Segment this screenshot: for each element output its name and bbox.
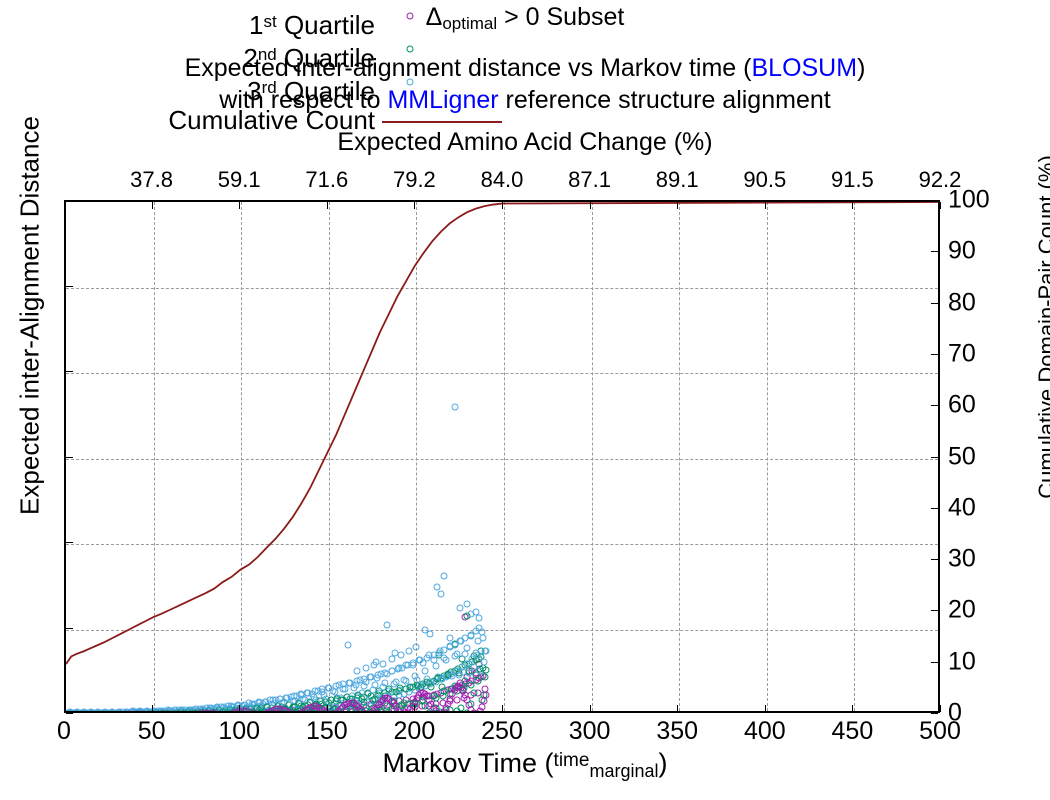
y-right-tick-label: 0 <box>948 699 962 728</box>
tick-x-top <box>414 202 415 209</box>
top-tick-label: 59.1 <box>218 167 261 193</box>
scatter-point-q1 <box>229 711 236 713</box>
scatter-point-q1 <box>96 711 103 713</box>
top-tick-label: 71.6 <box>305 167 348 193</box>
scatter-point-q1 <box>85 711 92 713</box>
scatter-point-q1 <box>186 711 193 713</box>
scatter-point-q1 <box>127 711 134 713</box>
scatter-point-q1 <box>157 711 164 713</box>
scatter-point-q3 <box>373 658 380 665</box>
scatter-point-q2 <box>470 689 477 696</box>
scatter-point-q3 <box>478 628 485 635</box>
title-l2-b: reference structure alignment <box>499 86 831 114</box>
top-tick-label: 90.5 <box>743 167 786 193</box>
y-right-tick-label: 30 <box>948 545 976 574</box>
x-tick-label: 50 <box>138 717 166 746</box>
scatter-point-q1 <box>77 711 84 713</box>
legend: 1st Quartile2nd Quartile3rd QuartileCumu… <box>120 5 480 137</box>
y-right-tick-label: 40 <box>948 493 976 522</box>
scatter-point-q1 <box>119 711 126 713</box>
x-tick-label: 0 <box>57 717 71 746</box>
scatter-point-q1 <box>365 711 372 713</box>
scatter-point-q3 <box>406 647 413 654</box>
scatter-point-q1 <box>180 711 187 713</box>
x-tick-label: 200 <box>394 717 436 746</box>
scatter-point-q1 <box>113 711 120 713</box>
tick-y-left <box>66 542 73 543</box>
scatter-point-q3 <box>380 660 387 667</box>
scatter-point-q1 <box>108 711 115 713</box>
scatter-point-q1 <box>222 711 229 713</box>
top-tick-label: 79.2 <box>393 167 436 193</box>
scatter-point-q1 <box>222 711 229 713</box>
tick-x-top <box>852 202 853 209</box>
scatter-point-q1 <box>291 711 298 713</box>
scatter-point-q3 <box>474 638 481 645</box>
scatter-point-q1 <box>401 711 408 713</box>
scatter-point-q2 <box>481 673 488 680</box>
scatter-point-q1 <box>100 711 107 713</box>
x-tick-label: 350 <box>656 717 698 746</box>
tick-x-top <box>677 202 678 209</box>
tick-x-top <box>765 202 766 209</box>
scatter-point-q3 <box>432 662 439 669</box>
scatter-point-q1 <box>363 711 370 713</box>
tick-x-bottom <box>677 705 678 712</box>
tick-x-top <box>239 202 240 209</box>
scatter-point-q1 <box>125 711 132 713</box>
scatter-point-q1 <box>102 711 109 713</box>
tick-y-left <box>66 371 73 372</box>
tick-x-top <box>502 202 503 209</box>
scatter-point-q1 <box>144 711 151 713</box>
scatter-point-q2 <box>428 683 435 690</box>
top-tick-label: 87.1 <box>568 167 611 193</box>
scatter-point-q1 <box>136 711 143 713</box>
tick-y-right <box>931 200 938 201</box>
legend-label-ordinal-suffix: st <box>264 12 277 31</box>
scatter-point-q1 <box>83 711 90 713</box>
scatter-point-q3 <box>353 667 360 674</box>
scatter-point-q3 <box>472 609 479 616</box>
scatter-point-q1 <box>483 692 490 699</box>
tick-y-right <box>931 559 938 560</box>
scatter-point-q1 <box>215 711 222 713</box>
y-right-tick-label: 60 <box>948 391 976 420</box>
scatter-point-q1 <box>142 711 149 713</box>
scatter-point-q3 <box>451 404 458 411</box>
tick-x-top <box>940 202 941 209</box>
y-right-title-line1: Cumulative Domain-Pair Count (%) <box>1033 67 1050 587</box>
scatter-point-q1 <box>98 711 105 713</box>
title-l1-b: ) <box>857 54 865 82</box>
scatter-point-q1 <box>260 711 267 713</box>
scatter-point-q1 <box>77 711 84 713</box>
scatter-point-q2 <box>462 677 469 684</box>
scatter-point-q1 <box>140 711 147 713</box>
legend-label: 2nd Quartile <box>243 38 375 75</box>
title-blosum-link: BLOSUM <box>751 54 857 82</box>
scatter-point-q1 <box>104 711 111 713</box>
legend-line-cumulative <box>382 121 502 123</box>
scatter-point-q1 <box>258 711 265 713</box>
scatter-point-q3 <box>345 641 352 648</box>
scatter-point-q1 <box>73 711 80 713</box>
scatter-point-q1 <box>153 711 160 713</box>
scatter-point-q1 <box>123 711 130 713</box>
scatter-point-q3 <box>443 657 450 664</box>
scatter-point-q1 <box>453 696 460 703</box>
scatter-point-q3 <box>464 645 471 652</box>
scatter-point-q1 <box>190 711 197 713</box>
tick-x-bottom <box>852 705 853 712</box>
tick-y-right <box>931 251 938 252</box>
scatter-point-q2 <box>467 682 474 689</box>
scatter-point-q1 <box>129 711 136 713</box>
tick-y-right <box>931 610 938 611</box>
scatter-point-q1 <box>472 711 479 713</box>
legend-marker-q2 <box>407 46 414 53</box>
scatter-point-q3 <box>427 630 434 637</box>
scatter-point-q1 <box>87 711 94 713</box>
tick-x-top <box>64 202 65 209</box>
scatter-point-q1 <box>184 711 191 713</box>
legend-marker-q3 <box>407 79 414 86</box>
x-tick-label: 100 <box>218 717 260 746</box>
tick-x-bottom <box>64 705 65 712</box>
tick-x-bottom <box>327 705 328 712</box>
scatter-point-q3 <box>409 662 416 669</box>
scatter-point-q1 <box>253 711 260 713</box>
scatter-point-q2 <box>483 666 490 673</box>
scatter-point-q1 <box>155 711 162 713</box>
tick-x-top <box>152 202 153 209</box>
scatter-point-q3 <box>362 664 369 671</box>
legend-label: 1st Quartile <box>249 5 375 42</box>
y-right-tick-label: 10 <box>948 647 976 676</box>
scatter-point-q1 <box>293 711 300 713</box>
scatter-point-q2 <box>401 699 408 706</box>
scatter-point-q3 <box>457 605 464 612</box>
scatter-point-q1 <box>224 711 231 713</box>
scatter-point-q2 <box>441 688 448 695</box>
tick-y-left <box>66 286 73 287</box>
scatter-point-q1 <box>92 711 99 713</box>
legend-item[interactable]: 2nd Quartile <box>120 38 480 71</box>
scatter-point-q1 <box>87 711 94 713</box>
xtitle-sub: marginal <box>589 761 658 781</box>
legend-label-ordinal-suffix: nd <box>258 45 277 64</box>
tick-y-right <box>931 457 938 458</box>
tick-x-bottom <box>940 705 941 712</box>
legend-label: 3rd Quartile <box>247 71 375 108</box>
y-axis-left-title: Expected inter-Alignment Distance <box>15 56 46 576</box>
y-right-tick-label: 50 <box>948 442 976 471</box>
x-tick-label: 300 <box>569 717 611 746</box>
tick-y-right <box>931 508 938 509</box>
xtitle-a: Markov Time ( <box>383 748 554 778</box>
scatter-point-q1 <box>296 711 303 713</box>
scatter-point-q1 <box>134 711 141 713</box>
x-tick-label: 450 <box>832 717 874 746</box>
legend-label-ordinal-suffix: rd <box>262 78 277 97</box>
x-tick-label: 400 <box>744 717 786 746</box>
scatter-point-q3 <box>481 658 488 665</box>
y-right-tick-label: 80 <box>948 288 976 317</box>
tick-y-right <box>931 354 938 355</box>
legend-item[interactable]: 3rd Quartile <box>120 71 480 104</box>
scatter-point-q1 <box>115 711 122 713</box>
legend-marker-q1 <box>407 13 414 20</box>
scatter-point-q3 <box>472 649 479 656</box>
scatter-point-q1 <box>98 711 105 713</box>
tick-x-top <box>590 202 591 209</box>
scatter-point-q3 <box>483 648 490 655</box>
scatter-point-q3 <box>441 573 448 580</box>
scatter-point-q1 <box>121 711 128 713</box>
tick-y-right <box>931 662 938 663</box>
scatter-point-q3 <box>388 656 395 663</box>
scatter-point-q3 <box>342 685 349 692</box>
top-tick-label: 37.8 <box>130 167 173 193</box>
scatter-point-q3 <box>392 650 399 657</box>
scatter-point-q1 <box>327 711 334 713</box>
scatter-point-q1 <box>436 711 443 713</box>
scatter-point-q3 <box>462 651 469 658</box>
chart-root: Δoptimal > 0 Subset Expected inter-align… <box>0 0 1050 800</box>
scatter-point-q3 <box>413 643 420 650</box>
tick-y-left <box>66 628 73 629</box>
x-tick-label: 150 <box>306 717 348 746</box>
subset-rest: > 0 Subset <box>497 3 624 31</box>
tick-x-bottom <box>239 705 240 712</box>
y-axis-right-title: Cumulative Domain-Pair Count (%) Out of … <box>1033 67 1050 587</box>
xtitle-b: ) <box>658 748 667 778</box>
scatter-point-q1 <box>89 711 96 713</box>
y-right-tick-label: 90 <box>948 237 976 266</box>
scatter-point-q1 <box>119 711 126 713</box>
scatter-point-q1 <box>220 711 227 713</box>
scatter-point-q1 <box>256 711 263 713</box>
scatter-points <box>66 202 938 711</box>
tick-y-left <box>66 200 73 201</box>
scatter-point-q2 <box>361 699 368 706</box>
scatter-point-q3 <box>447 642 454 649</box>
scatter-point-q1 <box>481 698 488 705</box>
y-right-tick-label: 20 <box>948 596 976 625</box>
scatter-point-q1 <box>108 711 115 713</box>
scatter-point-q1 <box>138 711 145 713</box>
y-right-tick-label: 100 <box>948 186 990 215</box>
y-right-tick-label: 70 <box>948 339 976 368</box>
tick-x-bottom <box>502 705 503 712</box>
scatter-point-q1 <box>140 711 147 713</box>
scatter-point-q1 <box>218 711 225 713</box>
top-tick-label: 84.0 <box>481 167 524 193</box>
scatter-point-q1 <box>117 711 124 713</box>
tick-x-top <box>327 202 328 209</box>
scatter-point-q1 <box>75 711 82 713</box>
scatter-point-q1 <box>178 711 185 713</box>
scatter-point-q1 <box>161 711 168 713</box>
scatter-point-q3 <box>453 651 460 658</box>
scatter-point-q1 <box>329 711 336 713</box>
tick-y-right <box>931 405 938 406</box>
legend-item[interactable]: 1st Quartile <box>120 5 480 38</box>
tick-x-bottom <box>152 705 153 712</box>
scatter-point-q1 <box>111 711 118 713</box>
scatter-point-q1 <box>79 711 86 713</box>
tick-y-left <box>66 457 73 458</box>
scatter-point-q3 <box>420 659 427 666</box>
legend-item[interactable]: Cumulative Count <box>120 104 480 137</box>
x-tick-label: 250 <box>481 717 523 746</box>
tick-y-left <box>66 713 73 714</box>
plot-area <box>64 200 940 713</box>
top-tick-label: 89.1 <box>656 167 699 193</box>
scatter-point-q1 <box>132 711 139 713</box>
scatter-point-q3 <box>422 667 429 674</box>
tick-y-right <box>931 713 938 714</box>
scatter-point-q1 <box>182 711 189 713</box>
tick-y-right <box>931 303 938 304</box>
scatter-point-q1 <box>81 711 88 713</box>
scatter-point-q3 <box>464 600 471 607</box>
scatter-point-q3 <box>383 622 390 629</box>
legend-label: Cumulative Count <box>168 104 375 137</box>
top-tick-label: 91.5 <box>831 167 874 193</box>
scatter-point-q1 <box>94 711 101 713</box>
tick-x-bottom <box>765 705 766 712</box>
tick-x-bottom <box>414 705 415 712</box>
xtitle-sup: time <box>554 750 590 771</box>
scatter-point-q1 <box>129 711 136 713</box>
x-axis-title: Markov Time (timemarginal) <box>0 748 1050 782</box>
scatter-point-q2 <box>430 692 437 699</box>
scatter-point-q3 <box>437 590 444 597</box>
tick-x-bottom <box>590 705 591 712</box>
scatter-point-q3 <box>446 635 453 642</box>
scatter-point-q1 <box>188 711 195 713</box>
scatter-point-q1 <box>106 711 113 713</box>
scatter-point-q3 <box>436 647 443 654</box>
scatter-point-q2 <box>415 710 422 713</box>
scatter-point-q3 <box>457 638 464 645</box>
